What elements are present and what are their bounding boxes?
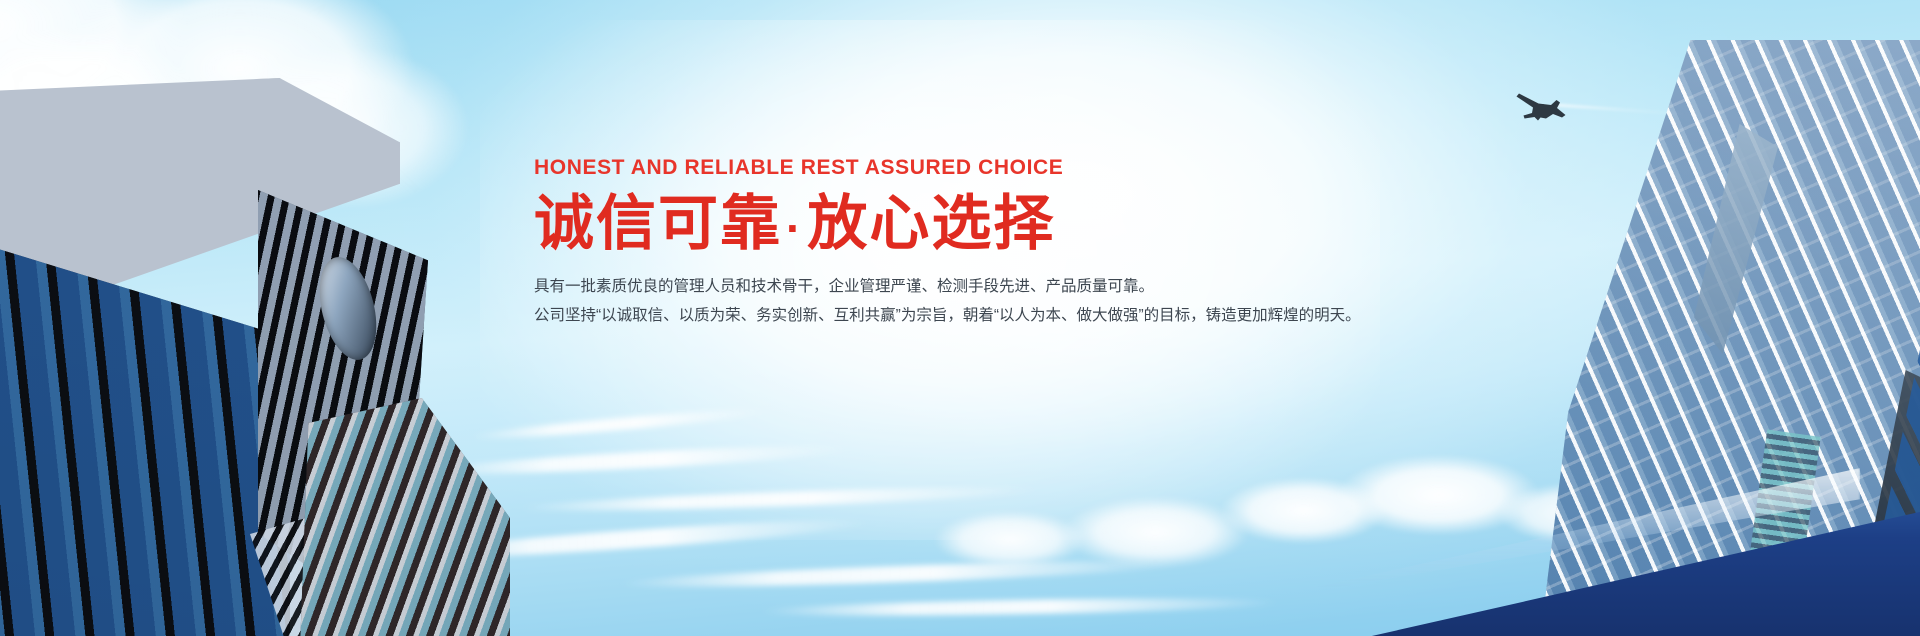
description-line-2: 公司坚持“以诚取信、以质为荣、务实创新、互利共赢”为宗旨，朝着“以人为本、做大做… [534, 302, 1354, 331]
hero-banner: HONEST AND RELIABLE REST ASSURED CHOICE … [0, 0, 1920, 636]
left-building-glass-face [0, 228, 290, 636]
airplane-icon [1513, 84, 1569, 128]
headline-separator: · [782, 202, 807, 254]
page-title: 诚信可靠·放心选择 [534, 190, 1354, 257]
banner-copy: HONEST AND RELIABLE REST ASSURED CHOICE … [534, 155, 1354, 331]
headline-right: 放心选择 [807, 190, 1055, 257]
banner-description: 具有一批素质优良的管理人员和技术骨干，企业管理严谨、检测手段先进、产品质量可靠。… [534, 273, 1354, 330]
banner-eyebrow: HONEST AND RELIABLE REST ASSURED CHOICE [534, 155, 1354, 181]
description-line-1: 具有一批素质优良的管理人员和技术骨干，企业管理严谨、检测手段先进、产品质量可靠。 [534, 273, 1354, 302]
headline-left: 诚信可靠 [534, 190, 782, 257]
